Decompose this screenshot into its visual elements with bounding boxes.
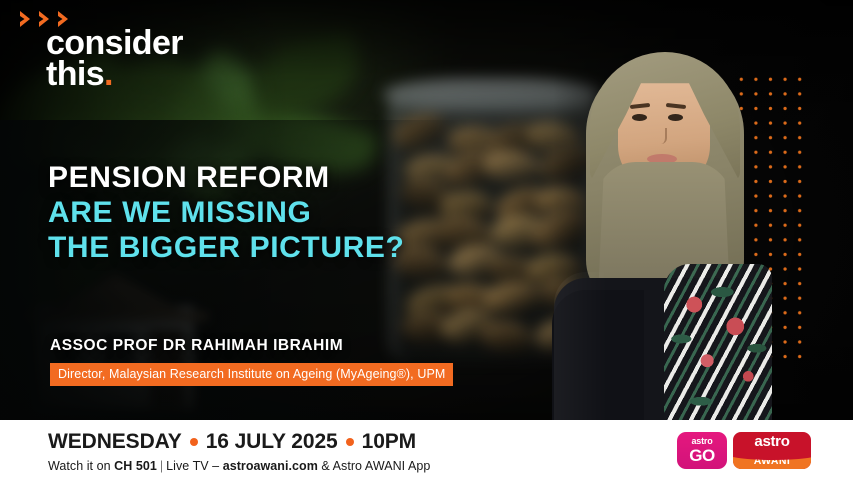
guest-block: ASSOC PROF DR RAHIMAH IBRAHIM Director, … [50, 337, 453, 386]
nose [658, 128, 667, 144]
watch-suffix: & Astro AWANI App [318, 459, 431, 473]
broadcast-time: 10PM [362, 430, 416, 454]
show-logo-line2-wrap: this. [46, 59, 183, 90]
watch-instructions: Watch it on CH 501|Live TV – astroawani.… [48, 459, 430, 473]
logo-group: astro GO astro AWANI [677, 432, 811, 469]
floral-outfit [664, 264, 772, 420]
watch-separator: | [160, 459, 163, 473]
broadcast-datetime: WEDNESDAY 16 JULY 2025 10PM [48, 430, 430, 454]
eye [668, 114, 683, 121]
watch-channel: CH 501 [114, 459, 157, 473]
watch-prefix: Watch it on [48, 459, 114, 473]
footer-schedule: WEDNESDAY 16 JULY 2025 10PM Watch it on … [48, 430, 430, 473]
shoulder [552, 290, 644, 420]
astro-go-logo: astro GO [677, 432, 727, 469]
bullet-separator-icon [346, 438, 354, 446]
show-logo: consider this. [46, 28, 183, 90]
astro-go-wordmark-bottom: GO [689, 447, 714, 464]
guest-name: ASSOC PROF DR RAHIMAH IBRAHIM [50, 337, 453, 355]
astro-awani-swoosh [733, 448, 811, 460]
headline-block: PENSION REFORM ARE WE MISSING THE BIGGER… [48, 160, 508, 265]
eye [632, 114, 647, 121]
astro-awani-logo: astro AWANI [733, 432, 811, 469]
show-logo-line2: this [46, 55, 104, 93]
bullet-separator-icon [190, 438, 198, 446]
footer-bar: WEDNESDAY 16 JULY 2025 10PM Watch it on … [0, 420, 853, 480]
watch-website-link[interactable]: astroawani.com [223, 459, 318, 473]
show-logo-dot: . [104, 55, 113, 93]
broadcast-day: WEDNESDAY [48, 430, 182, 454]
headline-line-2: ARE WE MISSING [48, 195, 508, 230]
headline-line-1: PENSION REFORM [48, 160, 508, 195]
broadcast-date: 16 JULY 2025 [206, 430, 338, 454]
guest-role-badge: Director, Malaysian Research Institute o… [50, 363, 453, 386]
guest-photo [546, 42, 776, 420]
promo-card: consider this. PENSION REFORM ARE WE MIS… [0, 0, 853, 480]
astro-go-wordmark-top: astro [691, 437, 712, 446]
watch-livetv: Live TV – [166, 459, 223, 473]
headline-line-3: THE BIGGER PICTURE? [48, 230, 508, 265]
